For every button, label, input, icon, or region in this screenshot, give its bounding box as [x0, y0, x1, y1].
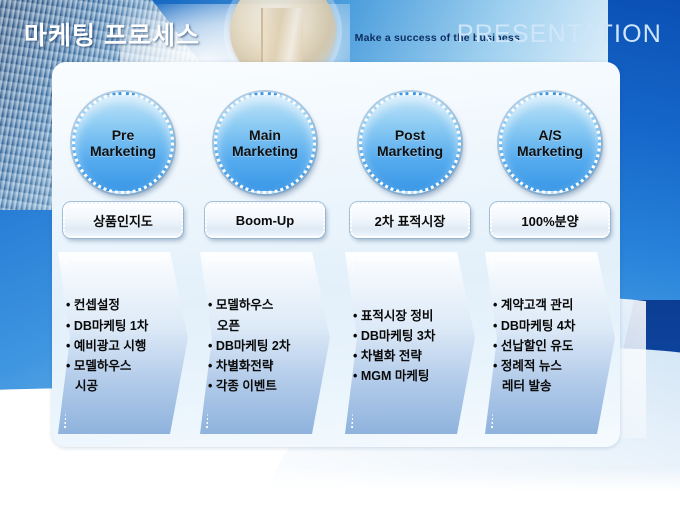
stage-bullet-item: • 모델하우스: [208, 295, 320, 315]
stage-circle-line1: A/S: [538, 127, 561, 143]
stage-tag-as-marketing[interactable]: 100%분양: [490, 202, 610, 238]
stage-tag-pre-marketing[interactable]: 상품인지도: [63, 202, 183, 238]
process-column-pre-marketing: Pre Marketing 상품인지도 • 컨셉설정• DB마케팅 1차• 예비…: [52, 62, 194, 447]
stage-bullet-item: • 예비광고 시행: [66, 336, 178, 356]
stage-tag-label: 상품인지도: [93, 211, 153, 230]
stage-bullet-item: • 컨셉설정: [66, 295, 178, 315]
stage-bullet-list: • 계약고객 관리• DB마케팅 4차• 선납할인 유도• 정례적 뉴스레터 발…: [493, 266, 605, 426]
stage-bullet-item: 시공: [66, 376, 178, 396]
stage-bullet-list: • 모델하우스오픈• DB마케팅 2차• 차별화전략• 각종 이벤트: [208, 266, 320, 426]
page-title: 마케팅 프로세스: [24, 16, 200, 52]
stage-circle-line1: Pre: [112, 127, 135, 143]
stage-bullet-item: • DB마케팅 2차: [208, 336, 320, 356]
stage-circle-post-marketing[interactable]: Post Marketing: [359, 92, 461, 194]
stage-bullet-item: • 정례적 뉴스: [493, 356, 605, 376]
stage-bullet-item: • DB마케팅 3차: [353, 326, 465, 346]
stage-tag-label: Boom-Up: [236, 213, 295, 228]
stage-bullet-list: • 컨셉설정• DB마케팅 1차• 예비광고 시행• 모델하우스시공: [66, 266, 178, 426]
stage-bullet-item: • 각종 이벤트: [208, 376, 320, 396]
header-presentation: PRESENTATION: [457, 20, 662, 49]
stage-circle-line2: Marketing: [90, 143, 156, 159]
stage-circle-line1: Post: [395, 127, 425, 143]
stage-circle-line2: Marketing: [232, 143, 298, 159]
process-column-post-marketing: Post Marketing 2차 표적시장 • 표적시장 정비• DB마케팅 …: [339, 62, 481, 447]
stage-bullet-item: • 차별화 전략: [353, 346, 465, 366]
stage-tag-post-marketing[interactable]: 2차 표적시장: [350, 202, 470, 238]
stage-circle-pre-marketing[interactable]: Pre Marketing: [72, 92, 174, 194]
stage-circle-line2: Marketing: [377, 143, 443, 159]
stage-bullet-item: 오픈: [208, 316, 320, 336]
stage-tag-label: 2차 표적시장: [375, 211, 446, 230]
stage-circle-as-marketing[interactable]: A/S Marketing: [499, 92, 601, 194]
stage-bullet-item: 레터 발송: [493, 376, 605, 396]
stage-bullet-item: • DB마케팅 1차: [66, 316, 178, 336]
stage-bullet-item: • 모델하우스: [66, 356, 178, 376]
presentation-slide: 마케팅 프로세스 Make a success of the business …: [0, 0, 680, 510]
stage-bullet-item: • DB마케팅 4차: [493, 316, 605, 336]
content-panel: Pre Marketing 상품인지도 • 컨셉설정• DB마케팅 1차• 예비…: [52, 62, 620, 447]
stage-bullet-item: • 표적시장 정비: [353, 306, 465, 326]
process-column-main-marketing: Main Marketing Boom-Up • 모델하우스오픈• DB마케팅 …: [194, 62, 336, 447]
stage-circle-line1: Main: [249, 127, 281, 143]
stage-bullet-item: • 차별화전략: [208, 356, 320, 376]
stage-bullet-list: • 표적시장 정비• DB마케팅 3차• 차별화 전략• MGM 마케팅: [353, 266, 465, 426]
stage-circle-main-marketing[interactable]: Main Marketing: [214, 92, 316, 194]
stage-tag-main-marketing[interactable]: Boom-Up: [205, 202, 325, 238]
process-column-as-marketing: A/S Marketing 100%분양 • 계약고객 관리• DB마케팅 4차…: [479, 62, 621, 447]
stage-bullet-item: • 계약고객 관리: [493, 295, 605, 315]
bottom-fade: [0, 468, 680, 510]
stage-bullet-item: • 선납할인 유도: [493, 336, 605, 356]
stage-tag-label: 100%분양: [521, 211, 578, 230]
stage-bullet-item: • MGM 마케팅: [353, 366, 465, 386]
stage-circle-line2: Marketing: [517, 143, 583, 159]
